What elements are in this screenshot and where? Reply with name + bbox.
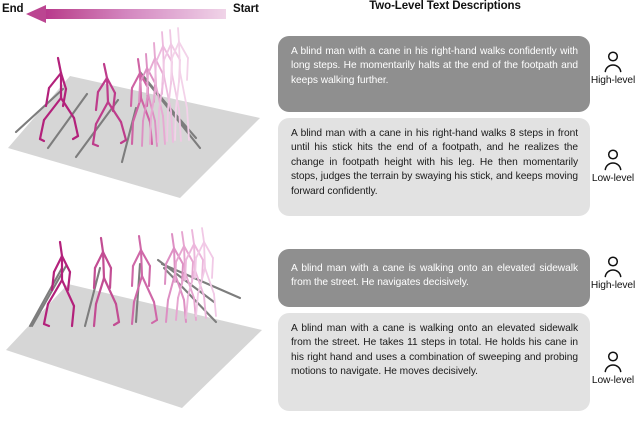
person-icon [601,50,625,74]
header-bar: End Start Two-Level Text Descriptions [0,0,640,28]
level-label: Low-level [582,375,640,386]
ground-plane [8,76,260,198]
skeleton-motion-sequence-2 [0,222,276,414]
level-annotation-low-2: Low-level [582,350,640,386]
level-label: Low-level [582,173,640,184]
left-arrow-icon [26,5,46,23]
gradient-bar [44,9,226,19]
level-annotation-high-2: High-level [582,255,640,291]
start-label: Start [233,3,259,15]
person-icon [601,255,625,279]
skeleton-motion-sequence-1 [0,26,276,218]
low-level-description-2: A blind man with a cane is walking onto … [278,313,590,411]
level-label: High-level [582,75,640,86]
end-label: End [2,3,23,15]
level-label: High-level [582,280,640,291]
level-annotation-high-1: High-level [582,50,640,86]
high-level-description-2: A blind man with a cane is walking onto … [278,249,590,307]
time-direction-arrow [26,6,226,22]
person-icon [601,148,625,172]
high-level-description-1: A blind man with a cane in his right-han… [278,36,590,112]
level-annotation-low-1: Low-level [582,148,640,184]
section-title: Two-Level Text Descriptions [280,0,610,12]
person-icon [601,350,625,374]
low-level-description-1: A blind man with a cane in his right-han… [278,118,590,216]
